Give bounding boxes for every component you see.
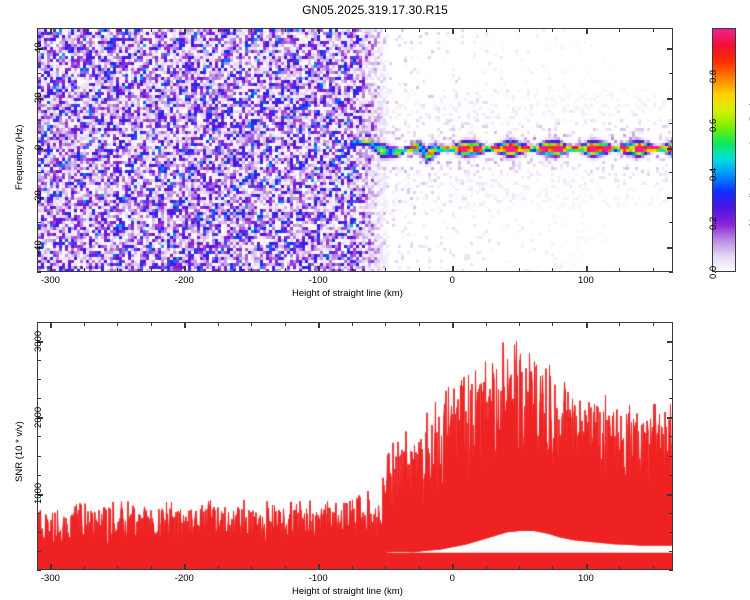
axis-tick (184, 322, 186, 328)
axis-tick (669, 532, 673, 533)
axis-tick (285, 566, 286, 570)
axis-tick (251, 566, 252, 570)
axis-tick (586, 266, 588, 272)
snr-x-axis-label: Height of straight line (km) (292, 586, 403, 597)
axis-tick (519, 28, 520, 32)
axis-tick (117, 28, 118, 32)
axis-tick (37, 551, 41, 552)
axis-tick (318, 28, 320, 34)
axis-tick-label: 100 (578, 573, 594, 584)
axis-tick (667, 197, 673, 199)
axis-tick (552, 268, 553, 272)
axis-tick (385, 322, 386, 326)
colorbar-tick-label: 0.2 (708, 216, 719, 229)
axis-tick (184, 564, 186, 570)
axis-tick (151, 268, 152, 272)
axis-tick (37, 475, 41, 476)
axis-tick-label: 0 (33, 145, 44, 150)
axis-tick (37, 570, 41, 571)
axis-tick (37, 398, 41, 399)
snr-plot-area (37, 322, 673, 570)
axis-tick-label: 2000 (33, 407, 44, 428)
colorbar-tick-label: 0.8 (708, 70, 719, 83)
axis-tick (667, 494, 673, 496)
axis-tick (486, 28, 487, 32)
axis-tick (667, 148, 673, 150)
axis-tick (669, 123, 673, 124)
axis-tick (586, 322, 588, 328)
axis-tick (669, 222, 673, 223)
axis-tick (184, 266, 186, 272)
snr-y-axis-label: SNR (10 * v/v) (14, 421, 25, 482)
spectrogram-image (38, 29, 673, 272)
axis-tick (419, 28, 420, 32)
axis-tick (669, 475, 673, 476)
axis-tick (486, 268, 487, 272)
spectrogram-x-axis-label: Height of straight line (km) (292, 288, 403, 299)
axis-tick (419, 566, 420, 570)
axis-tick (50, 564, 52, 570)
colorbar-area (712, 28, 736, 272)
axis-tick (385, 566, 386, 570)
axis-tick (552, 322, 553, 326)
axis-tick (251, 28, 252, 32)
axis-tick (669, 272, 673, 273)
axis-tick (452, 28, 454, 34)
axis-tick (669, 570, 673, 571)
axis-tick (667, 417, 673, 419)
page-title: GN05.2025.319.17.30.R15 (0, 3, 750, 17)
axis-tick-label: 20 (33, 93, 44, 104)
axis-tick (37, 172, 41, 173)
axis-tick-label: 100 (578, 275, 594, 286)
axis-tick (37, 322, 41, 323)
axis-tick-label: -100 (309, 275, 328, 286)
axis-tick (419, 268, 420, 272)
axis-tick (117, 322, 118, 326)
axis-tick (669, 456, 673, 457)
colorbar-tick-label: 0.6 (708, 119, 719, 132)
axis-tick-label: -40 (33, 240, 44, 254)
axis-tick (251, 268, 252, 272)
axis-tick (552, 28, 553, 32)
axis-tick-label: -20 (33, 191, 44, 205)
axis-tick (385, 28, 386, 32)
plot-page: GN05.2025.319.17.30.R15 -300-200-1000100… (0, 0, 750, 600)
axis-tick (669, 322, 673, 323)
axis-tick (667, 48, 673, 50)
axis-tick (669, 379, 673, 380)
axis-tick (586, 28, 588, 34)
axis-tick (669, 436, 673, 437)
axis-tick (619, 28, 620, 32)
axis-tick (669, 551, 673, 552)
axis-tick-label: 1000 (33, 483, 44, 504)
axis-tick-label: 0 (450, 275, 455, 286)
axis-tick (318, 266, 320, 272)
colorbar-tick-label: 0.4 (708, 168, 719, 181)
axis-tick (452, 564, 454, 570)
axis-tick (84, 322, 85, 326)
axis-tick (151, 566, 152, 570)
axis-tick (285, 28, 286, 32)
axis-tick (667, 98, 673, 100)
axis-tick (669, 513, 673, 514)
axis-tick (37, 222, 41, 223)
axis-tick (37, 123, 41, 124)
axis-tick (352, 566, 353, 570)
axis-tick (37, 436, 41, 437)
axis-tick (218, 268, 219, 272)
axis-tick (669, 73, 673, 74)
axis-tick (486, 566, 487, 570)
snr-trace (38, 323, 673, 570)
axis-tick (84, 28, 85, 32)
axis-tick (84, 268, 85, 272)
axis-tick (519, 566, 520, 570)
axis-tick (37, 532, 41, 533)
axis-tick-label: 3000 (33, 330, 44, 351)
axis-tick (352, 322, 353, 326)
axis-tick (619, 322, 620, 326)
axis-tick (117, 268, 118, 272)
axis-tick (653, 566, 654, 570)
axis-tick (285, 322, 286, 326)
axis-tick (117, 566, 118, 570)
axis-tick (385, 268, 386, 272)
axis-tick (352, 268, 353, 272)
axis-tick (318, 322, 320, 328)
axis-tick-label: -300 (41, 573, 60, 584)
axis-tick (218, 28, 219, 32)
axis-tick (669, 172, 673, 173)
axis-tick (519, 322, 520, 326)
axis-tick (667, 341, 673, 343)
axis-tick (84, 566, 85, 570)
axis-tick (419, 322, 420, 326)
axis-tick (669, 398, 673, 399)
colorbar-gradient (713, 29, 736, 272)
axis-tick (452, 322, 454, 328)
axis-tick (218, 322, 219, 326)
axis-tick (37, 456, 41, 457)
axis-tick (37, 272, 41, 273)
axis-tick-label: -200 (175, 275, 194, 286)
axis-tick (669, 360, 673, 361)
axis-tick (184, 28, 186, 34)
axis-tick (151, 322, 152, 326)
axis-tick (653, 28, 654, 32)
axis-tick (151, 28, 152, 32)
axis-tick-label: -300 (41, 275, 60, 286)
axis-tick (50, 266, 52, 272)
axis-tick-label: -200 (175, 573, 194, 584)
axis-tick (37, 73, 41, 74)
axis-tick (37, 360, 41, 361)
axis-tick (486, 322, 487, 326)
axis-tick (667, 247, 673, 249)
axis-tick (251, 322, 252, 326)
axis-tick (619, 268, 620, 272)
axis-tick (37, 513, 41, 514)
spectrogram-plot-area (37, 28, 673, 272)
spectrogram-y-axis-label: Frequency (Hz) (14, 125, 25, 190)
axis-tick-label: -100 (309, 573, 328, 584)
axis-tick (37, 379, 41, 380)
axis-tick (50, 28, 52, 34)
colorbar-tick-label: 0.0 (708, 265, 719, 278)
axis-tick (586, 564, 588, 570)
axis-tick (50, 322, 52, 328)
axis-tick (519, 268, 520, 272)
axis-tick (218, 566, 219, 570)
axis-tick (619, 566, 620, 570)
axis-tick-label: 40 (33, 43, 44, 54)
axis-tick (285, 268, 286, 272)
axis-tick (653, 268, 654, 272)
axis-tick (352, 28, 353, 32)
axis-tick (452, 266, 454, 272)
axis-tick-label: 0 (450, 573, 455, 584)
axis-tick (318, 564, 320, 570)
axis-tick (653, 322, 654, 326)
axis-tick (552, 566, 553, 570)
